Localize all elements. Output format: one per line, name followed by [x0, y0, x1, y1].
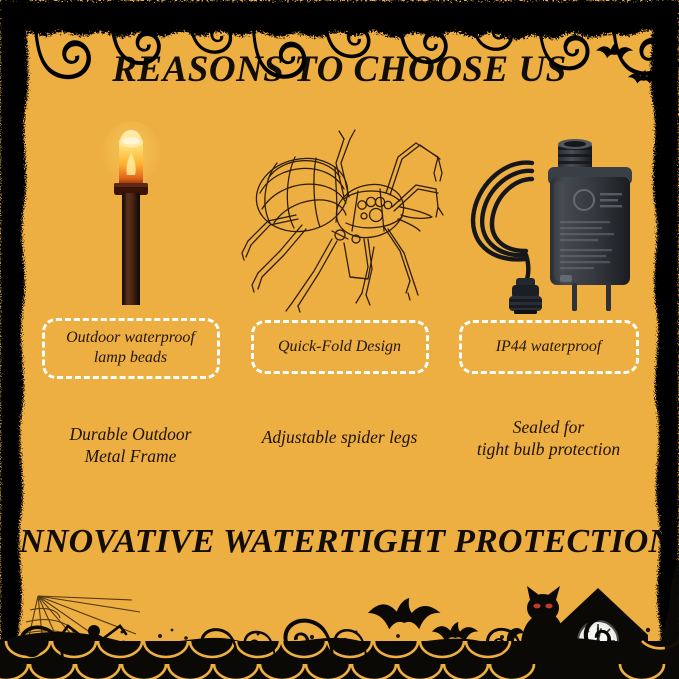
spider-web-icon	[16, 596, 140, 676]
page-title: REASONS TO CHOOSE US	[0, 48, 679, 92]
caption-line-1: Sealed for	[477, 416, 620, 438]
bottom-swirl-ornament-group	[19, 615, 638, 667]
led-flame-stake-light-icon	[26, 122, 235, 310]
shingle-arcs	[0, 641, 679, 679]
caption-line-1: Durable Outdoor	[69, 423, 191, 445]
feature-column-2: Quick-Fold Design Adjustable spider legs	[235, 122, 444, 467]
cat-eye-icon-group	[533, 604, 552, 609]
web-spider-icon	[57, 625, 131, 676]
feature-column-3: IP44 waterproof Sealed for tight bulb pr…	[444, 122, 653, 467]
caption-sealed-for-tight-bulb-protection: Sealed for tight bulb protection	[477, 416, 620, 460]
badge-line-1: Outdoor waterproof	[58, 328, 204, 348]
footer-headline: INNOVATIVE WATERTIGHT PROTECTION	[0, 521, 679, 563]
caption-line-2: tight bulb protection	[477, 438, 620, 460]
scalloped-roof	[0, 632, 679, 679]
caption-durable-outdoor-metal-frame: Durable Outdoor Metal Frame	[69, 423, 191, 467]
bat-icon-group-bottom	[368, 598, 478, 642]
power-adapter-icon	[444, 122, 653, 312]
badge-line-1: IP44 waterproof	[475, 337, 623, 357]
feature-columns: Outdoor waterproof lamp beads Durable Ou…	[26, 122, 653, 467]
badge-outdoor-waterproof-lamp-beads: Outdoor waterproof lamp beads	[42, 318, 220, 379]
grunge-speckle	[121, 628, 651, 640]
clock-tower-icon	[548, 588, 648, 679]
caption-line-2: Metal Frame	[69, 445, 191, 467]
wireframe-spider-icon	[235, 122, 444, 312]
badge-line-1: Quick-Fold Design	[267, 337, 413, 357]
badge-line-2: lamp beads	[58, 348, 204, 368]
caption-adjustable-spider-legs: Adjustable spider legs	[262, 426, 418, 448]
badge-ip44-waterproof: IP44 waterproof	[459, 320, 639, 374]
feature-column-1: Outdoor waterproof lamp beads Durable Ou…	[26, 122, 235, 467]
caption-line-1: Adjustable spider legs	[262, 426, 418, 448]
halloween-product-infographic: REASONS TO CHOOSE US	[0, 0, 679, 679]
badge-quick-fold-design: Quick-Fold Design	[251, 320, 429, 374]
black-cat-icon	[507, 586, 565, 672]
